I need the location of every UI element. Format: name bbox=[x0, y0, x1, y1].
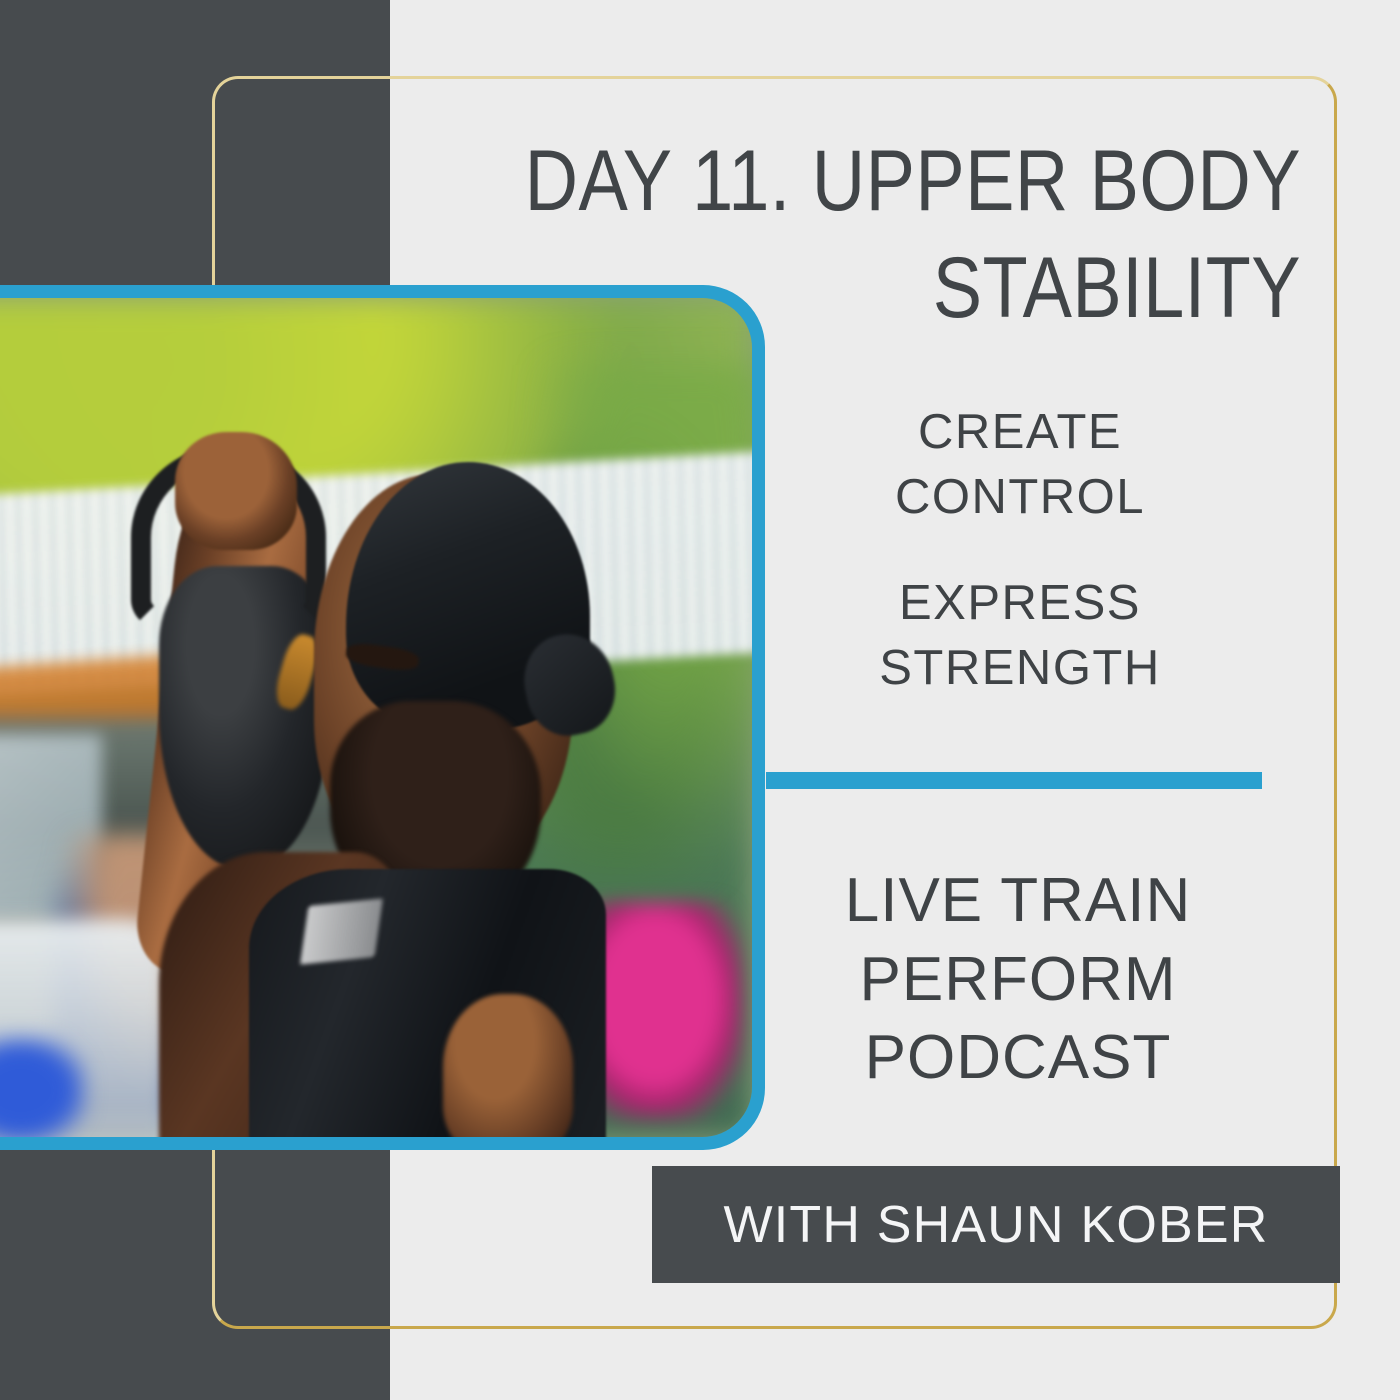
host-photo bbox=[0, 298, 752, 1137]
tagline-line-1: CREATE bbox=[770, 400, 1270, 465]
host-credit-text: WITH SHAUN KOBER bbox=[723, 1195, 1268, 1255]
photo-subject-bicep bbox=[443, 994, 573, 1137]
podcast-name-line-1: LIVE TRAIN bbox=[770, 862, 1266, 941]
episode-tagline: CREATE CONTROL EXPRESS STRENGTH bbox=[770, 400, 1270, 701]
episode-title: DAY 11. UPPER BODY STABILITY bbox=[523, 128, 1301, 341]
blue-accent-divider bbox=[766, 772, 1262, 789]
episode-title-line-2: STABILITY bbox=[523, 235, 1301, 342]
podcast-name: LIVE TRAIN PERFORM PODCAST bbox=[770, 862, 1266, 1098]
tagline-line-4: STRENGTH bbox=[770, 636, 1270, 701]
episode-title-line-1: DAY 11. UPPER BODY bbox=[523, 128, 1301, 235]
podcast-cover-art: DAY 11. UPPER BODY STABILITY CREATE CONT… bbox=[0, 0, 1400, 1400]
host-credit-banner: WITH SHAUN KOBER bbox=[652, 1166, 1340, 1283]
photo-shirt-logo bbox=[300, 898, 383, 964]
podcast-name-line-2: PERFORM bbox=[770, 941, 1266, 1020]
host-photo-frame bbox=[0, 285, 765, 1150]
photo-blue-object bbox=[0, 1036, 86, 1137]
podcast-name-line-3: PODCAST bbox=[770, 1019, 1266, 1098]
photo-pink-object bbox=[582, 902, 744, 1120]
tagline-line-3: EXPRESS bbox=[770, 571, 1270, 636]
tagline-spacer bbox=[770, 529, 1270, 571]
photo-subject-fist bbox=[175, 432, 297, 549]
tagline-line-2: CONTROL bbox=[770, 465, 1270, 530]
